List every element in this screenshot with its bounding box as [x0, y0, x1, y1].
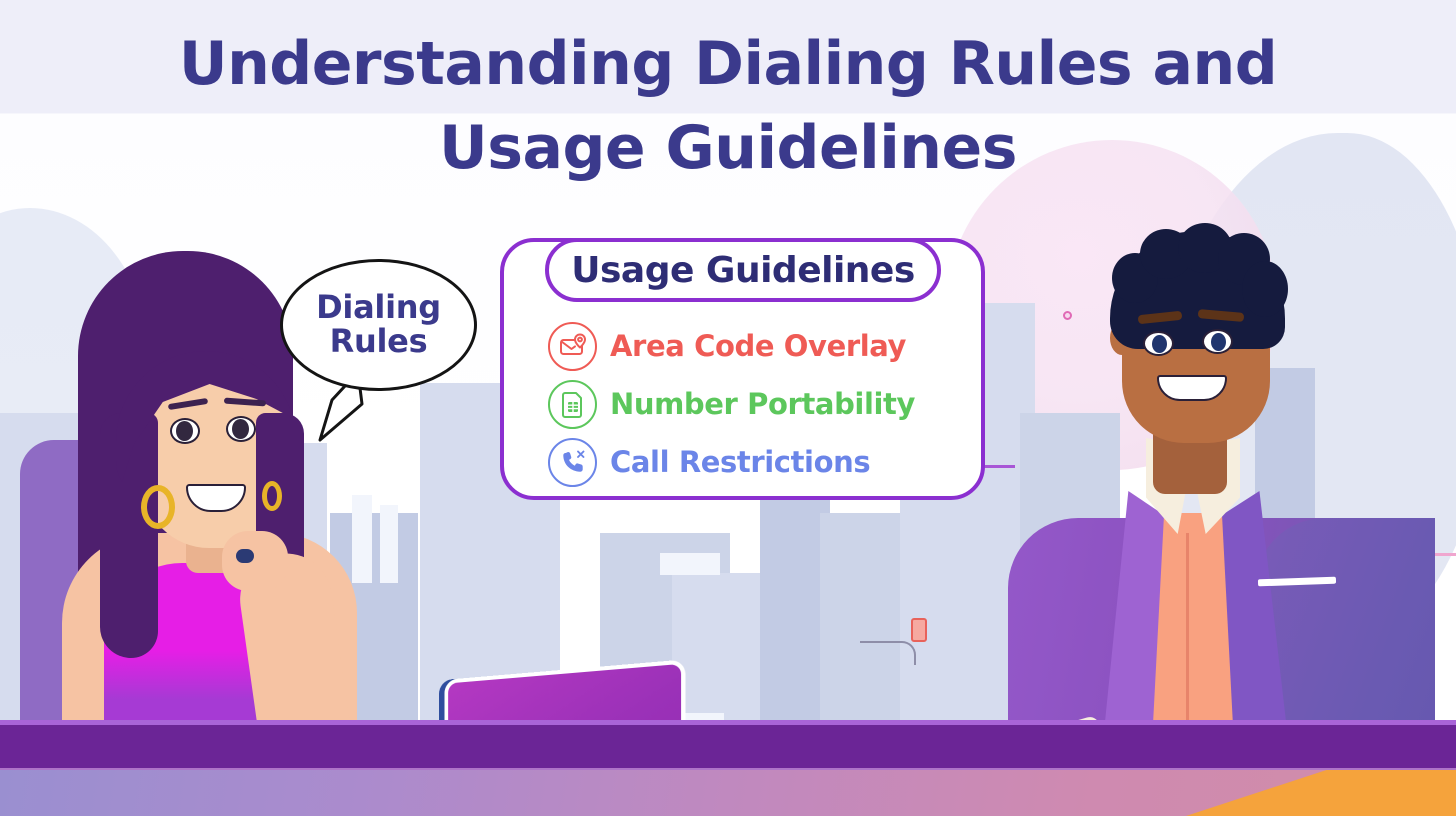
- guideline-item-number-portability[interactable]: Number Portability: [548, 380, 978, 428]
- envelope-location-pin-icon: [548, 322, 597, 371]
- speech-bubble: Dialing Rules: [280, 259, 477, 391]
- woman-pupil-left: [176, 421, 193, 441]
- infographic-canvas: Understanding Dialing Rules and Usage Gu…: [0, 0, 1456, 816]
- man-pupil-right: [1211, 333, 1226, 351]
- antenna-box-icon: [911, 618, 927, 642]
- sim-card-icon: [548, 380, 597, 429]
- guideline-label: Number Portability: [610, 387, 915, 421]
- guideline-item-area-code-overlay[interactable]: Area Code Overlay: [548, 322, 978, 370]
- antenna-wire: [860, 641, 916, 665]
- desk: [0, 725, 1456, 770]
- woman-nail: [236, 549, 254, 563]
- woman-earring-hoop: [141, 485, 175, 529]
- woman-pupil-right: [232, 419, 249, 439]
- man-hair-curl: [1242, 261, 1288, 317]
- phone-missed-call-icon: [548, 438, 597, 487]
- guideline-label: Call Restrictions: [610, 445, 870, 479]
- page-title: Understanding Dialing Rules and Usage Gu…: [0, 22, 1456, 190]
- building-window: [380, 505, 398, 583]
- man-pupil-left: [1152, 335, 1167, 353]
- usage-guidelines-title-pill: Usage Guidelines: [545, 238, 941, 302]
- building-window: [352, 495, 372, 583]
- pink-dot-decoration: [1063, 311, 1072, 320]
- woman-hand-to-face: [222, 531, 288, 591]
- woman-earring-hoop-right: [262, 481, 282, 511]
- speech-bubble-text: Dialing Rules: [316, 291, 441, 358]
- guideline-item-call-restrictions[interactable]: Call Restrictions: [548, 438, 978, 486]
- guideline-label: Area Code Overlay: [610, 329, 906, 363]
- building-window: [660, 553, 720, 575]
- usage-guidelines-list: Area Code Overlay Number Portability Cal…: [548, 322, 978, 486]
- man-smile: [1157, 375, 1227, 401]
- usage-guidelines-title: Usage Guidelines: [571, 250, 915, 291]
